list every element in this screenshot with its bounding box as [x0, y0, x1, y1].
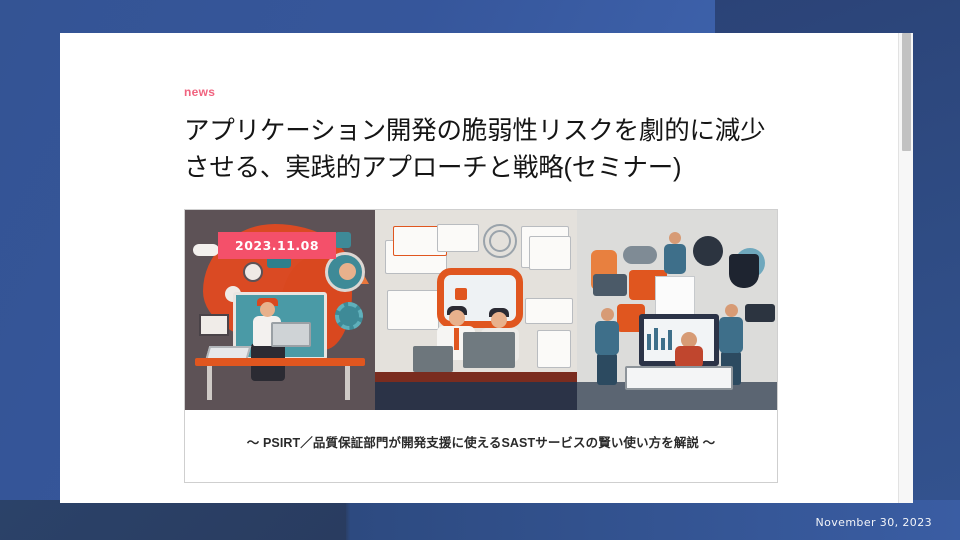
bar-chart-bar: [668, 330, 672, 350]
desk-leg-illustration: [207, 366, 212, 400]
scrollbar-thumb[interactable]: [902, 33, 911, 151]
bar-chart-bar: [661, 338, 665, 350]
bar-chart-bar: [647, 334, 651, 350]
person-legs-illustration: [597, 353, 617, 385]
ui-card-icon: [537, 330, 571, 368]
person-head-illustration: [725, 304, 738, 317]
bar-chart-bar: [654, 328, 658, 350]
laptop-keyboard-illustration: [625, 366, 733, 390]
gear-icon: [335, 302, 363, 330]
page-content-area: news アプリケーション開発の脆弱性リスクを劇的に減少させる、実践的アプローチ…: [60, 33, 898, 503]
banner-panel-engineers-at-monitors: [375, 210, 577, 410]
person-head-illustration: [601, 308, 614, 321]
person-head-illustration: [669, 232, 681, 244]
banner-caption-text: 〜 PSIRT／品質保証部門が開発支援に使えるSASTサービスの賢い使い方を解説…: [247, 436, 715, 450]
ui-card-icon: [529, 236, 571, 270]
desk-leg-illustration: [345, 366, 350, 400]
cloud-icon: [193, 244, 219, 256]
banner-caption-area: 〜 PSIRT／品質保証部門が開発支援に使えるSASTサービスの賢い使い方を解説…: [185, 410, 777, 482]
tablet-illustration: [199, 314, 229, 336]
chart-card-icon: [745, 304, 775, 322]
person-body-illustration: [719, 317, 743, 353]
article-category-label: news: [184, 85, 778, 99]
document-node-icon: [335, 232, 351, 248]
laptop-illustration: [271, 322, 311, 347]
monitor-illustration: [463, 332, 515, 368]
article-title: アプリケーション開発の脆弱性リスクを劇的に減少させる、実践的アプローチと戦略(セ…: [184, 113, 778, 187]
ui-card-icon: [525, 298, 573, 324]
person-body-illustration: [675, 346, 703, 368]
banner-panel-security-team-laptop: [577, 210, 777, 410]
list-card-icon: [593, 274, 627, 296]
desk-illustration: [375, 372, 577, 382]
news-article: news アプリケーション開発の脆弱性リスクを劇的に減少させる、実践的アプローチ…: [184, 85, 778, 483]
person-body-illustration: [664, 244, 686, 274]
necktie-illustration: [454, 328, 459, 350]
background-bottom-left-block: [0, 500, 346, 540]
desk-front-illustration: [375, 382, 577, 410]
slide-footer-date: November 30, 2023: [815, 516, 932, 529]
browser-content-panel: news アプリケーション開発の脆弱性リスクを劇的に減少させる、実践的アプローチ…: [60, 33, 913, 503]
vertical-scrollbar[interactable]: [898, 33, 913, 503]
person-body-illustration: [595, 321, 619, 355]
banner-image-strip: 2023.11.08: [185, 210, 777, 410]
ui-card-icon: [387, 290, 439, 330]
banner-date-badge: 2023.11.08: [218, 232, 336, 259]
article-banner[interactable]: 2023.11.08: [184, 209, 778, 483]
app-tile-icon: [455, 288, 467, 300]
ui-card-icon: [437, 224, 479, 252]
pill-icon: [623, 246, 657, 264]
shield-circle-icon: [693, 236, 723, 266]
laptop-illustration: [413, 346, 453, 372]
desk-illustration: [195, 358, 365, 366]
shield-icon: [729, 254, 759, 288]
